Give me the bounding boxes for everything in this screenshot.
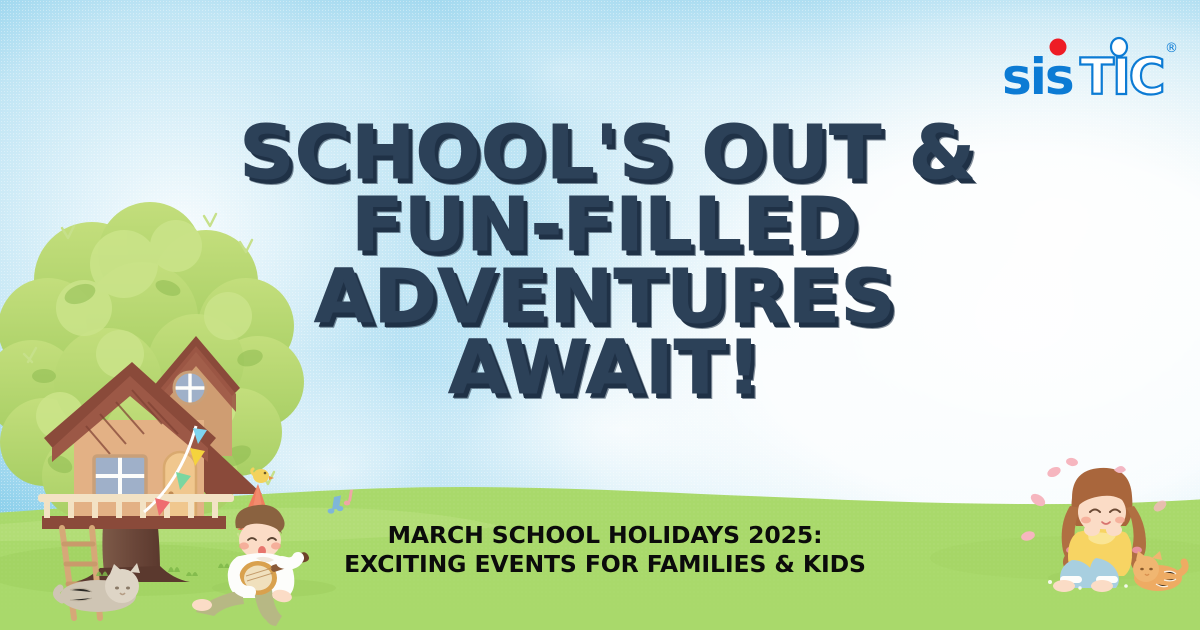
ginger-cat xyxy=(1133,551,1185,591)
headline-line-3: ADVENTURES xyxy=(239,262,970,334)
sistic-logo[interactable]: sis TIC ® xyxy=(1002,30,1178,104)
logo-registered-mark: ® xyxy=(1165,41,1178,56)
subtitle-line-2: EXCITING EVENTS FOR FAMILIES & KIDS xyxy=(250,550,960,579)
headline-line-1: SCHOOL'S OUT & xyxy=(239,118,970,190)
subtitle-line-1: MARCH SCHOOL HOLIDAYS 2025: xyxy=(250,521,960,550)
banner-canvas: SCHOOL'S OUT & FUN-FILLED ADVENTURES AWA… xyxy=(0,0,1200,630)
logo-text-sis: sis xyxy=(1002,48,1073,106)
logo-text-tic: TIC xyxy=(1080,48,1163,106)
yellow-bird-icon xyxy=(252,469,274,483)
subtitle: MARCH SCHOOL HOLIDAYS 2025: EXCITING EVE… xyxy=(250,521,960,580)
logo-red-dot xyxy=(1050,39,1067,56)
headline-line-2: FUN-FILLED xyxy=(239,190,970,262)
music-note-icon xyxy=(328,495,344,513)
music-note-icon-2 xyxy=(344,489,353,505)
logo-white-dot xyxy=(1111,38,1127,56)
girl-sitting-illustration xyxy=(1030,450,1190,595)
headline: SCHOOL'S OUT & FUN-FILLED ADVENTURES AWA… xyxy=(239,118,970,405)
headline-line-4: AWAIT! xyxy=(239,333,970,405)
